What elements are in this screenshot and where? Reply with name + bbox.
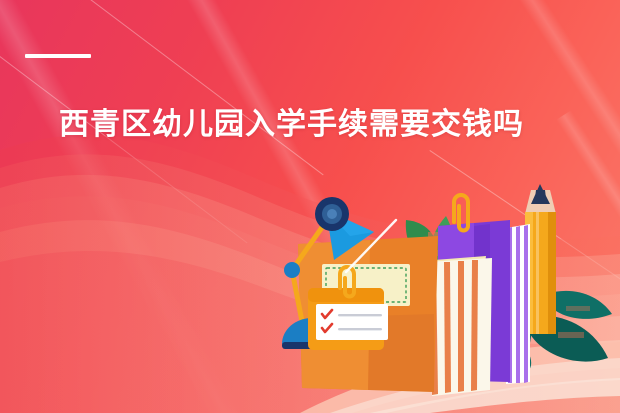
school-supplies-illustration	[278, 176, 620, 413]
page-title: 西青区幼儿园入学手续需要交钱吗	[59, 107, 524, 143]
banner-card: 西青区幼儿园入学手续需要交钱吗	[0, 0, 620, 413]
diagonal-streak	[0, 0, 261, 413]
decor-hairline	[83, 0, 323, 175]
decor-hairline	[0, 44, 248, 243]
title-accent-rule	[25, 54, 91, 58]
